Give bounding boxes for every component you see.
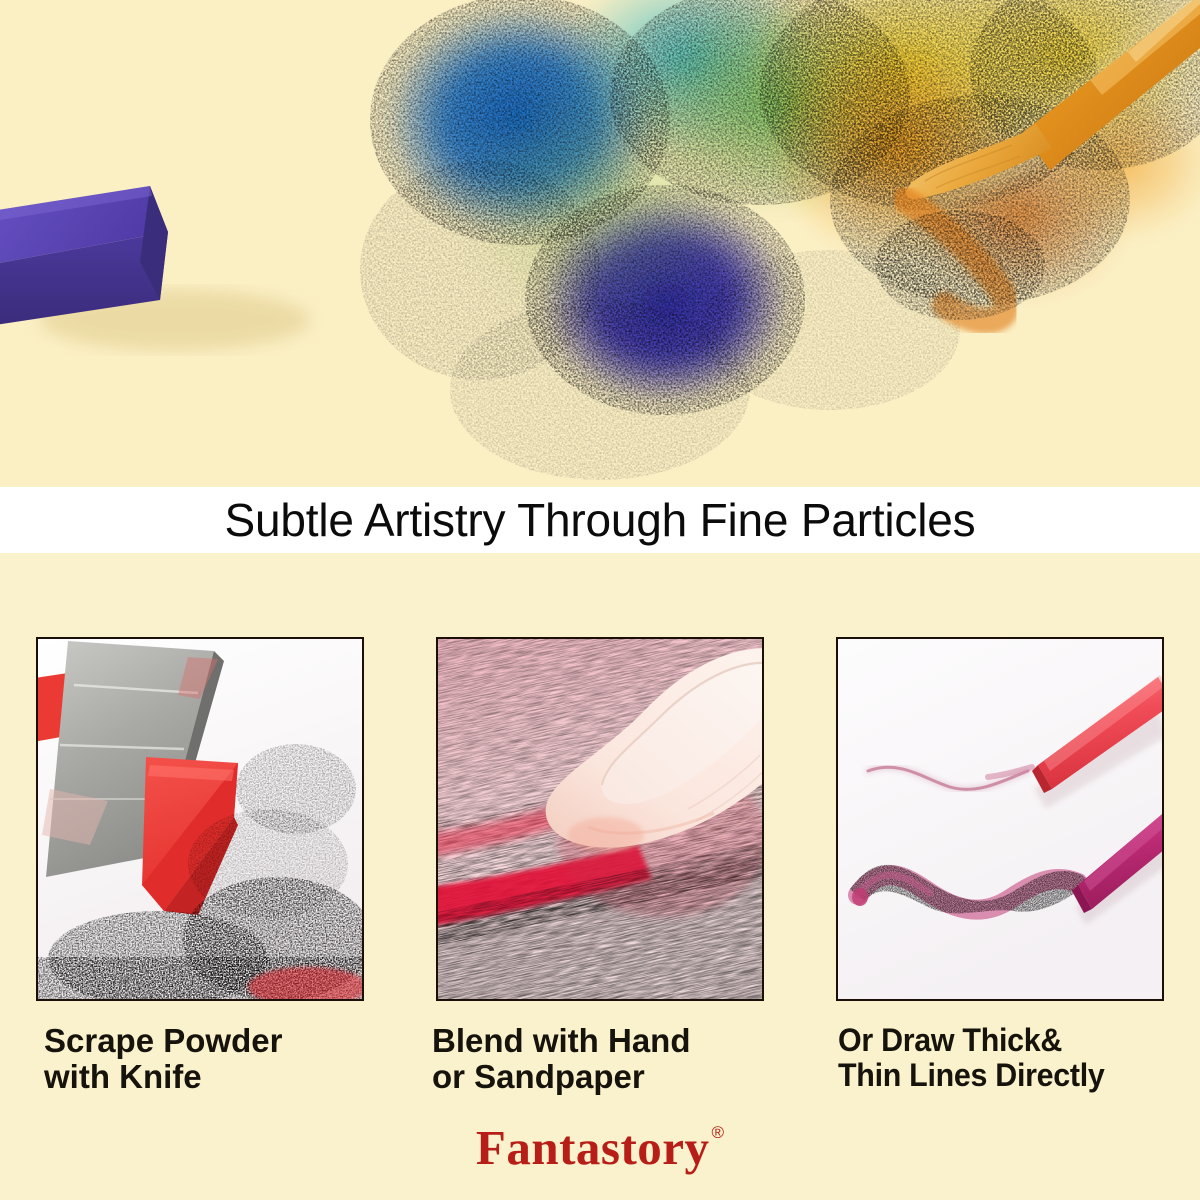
caption-scrape-line1: Scrape Powder (44, 1022, 282, 1059)
caption-blend-hand: Blend with Hand or Sandpaper (432, 1023, 812, 1094)
scrape-powder-photo (36, 637, 364, 1001)
caption-draw-line1: Or Draw Thick& (838, 1022, 1062, 1058)
draw-lines-illustration (838, 639, 1162, 999)
headline-band: Subtle Artistry Through Fine Particles (0, 487, 1200, 553)
caption-draw-lines: Or Draw Thick& Thin Lines Directly (838, 1023, 1199, 1092)
scrape-illustration (38, 639, 362, 999)
technique-panels (0, 637, 1200, 1001)
caption-scrape-line2: with Knife (44, 1059, 424, 1095)
brand-name: Fantastory (476, 1123, 710, 1172)
panel3-paper (838, 639, 1162, 999)
brand-logo: Fantastory® (0, 1123, 1200, 1172)
page-title: Subtle Artistry Through Fine Particles (225, 497, 976, 543)
panel-captions: Scrape Powder with Knife Blend with Hand… (0, 1023, 1200, 1113)
how-to-use-section: Scrape Powder with Knife Blend with Hand… (0, 553, 1200, 1200)
blend-illustration (438, 639, 762, 999)
registered-trademark-icon: ® (712, 1123, 725, 1143)
caption-blend-line2: or Sandpaper (432, 1059, 812, 1095)
draw-lines-photo (836, 637, 1164, 1001)
caption-blend-line1: Blend with Hand (432, 1022, 691, 1059)
blend-with-hand-photo (436, 637, 764, 1001)
pastel-powder-hero-photo (0, 0, 1200, 487)
hero-illustration (0, 0, 1200, 487)
caption-scrape-powder: Scrape Powder with Knife (44, 1023, 424, 1094)
product-marketing-page: Subtle Artistry Through Fine Particles (0, 0, 1200, 1200)
caption-draw-line2: Thin Lines Directly (838, 1058, 1199, 1093)
